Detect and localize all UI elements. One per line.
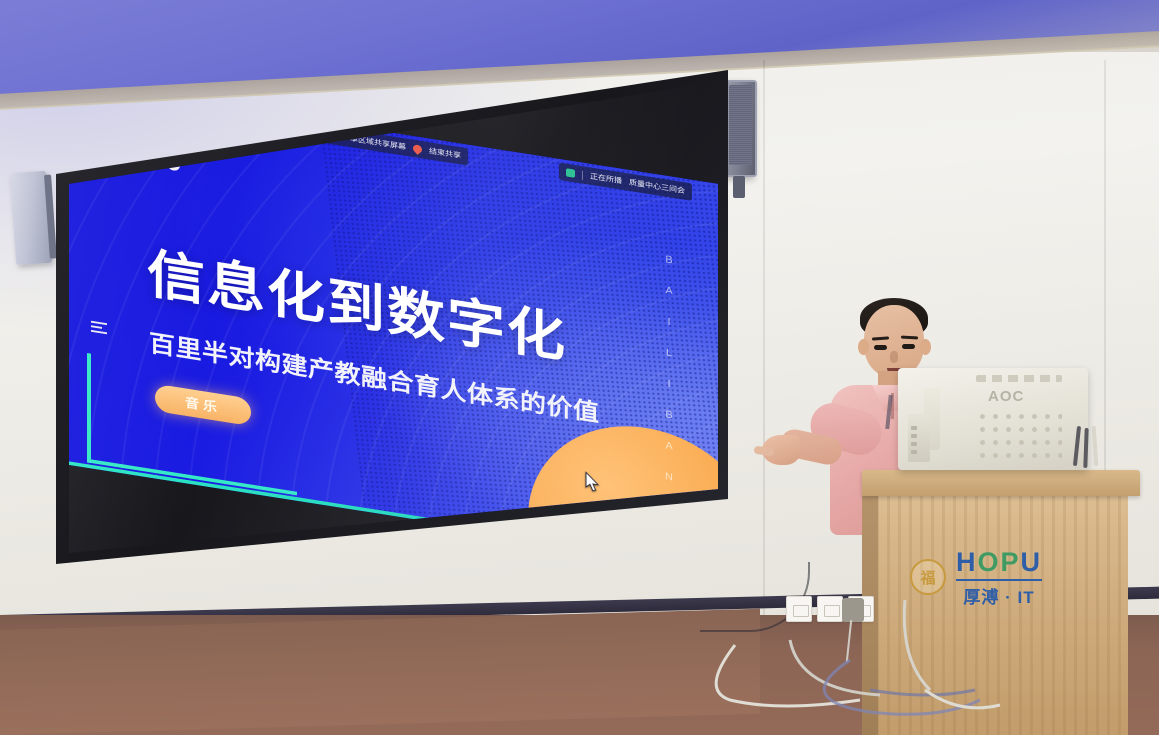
monitor-button-1[interactable] [911,426,917,430]
hopu-letter-p: P [1001,547,1021,577]
hopu-chinese-text: 厚溥 · IT [963,583,1034,608]
monitor-buttons[interactable] [911,426,917,454]
monitor-cables [1073,426,1107,468]
vertical-letter-0: B [665,254,674,266]
aoc-monitor: AOC [898,368,1088,478]
monitor-grill-pattern [976,410,1062,462]
screen-display-area[interactable]: 信息化到数字化 百里半对构建产教融合育人体系的价值 音乐 B A I L I B… [40,64,740,564]
power-plug [842,598,864,622]
hopu-letter-o: O [978,547,1001,577]
vertical-letter-2: I [665,316,674,328]
stop-share-label[interactable]: 结束共享 [429,146,461,161]
vertical-letter-4: I [665,378,674,390]
vertical-letter-6: A [665,440,674,452]
flame-icon [411,143,424,155]
vertical-brand-text: B A I L I B A N [665,254,674,483]
vertical-letter-5: B [665,409,674,421]
hopu-underline [956,579,1042,581]
hopu-latin-text: HOPU [956,547,1042,578]
fu-seal-icon: 福 [910,559,946,595]
presenter-nose [890,351,898,363]
podium-front-panel [876,494,1128,735]
podium-logo: 福 HOPU 厚溥 · IT [910,542,1080,612]
broadcast-status-label: 正在所播 [590,171,622,186]
presenter-eye-right [902,344,915,349]
vertical-letter-1: A [665,285,674,297]
monitor-vents [976,375,1062,382]
monitor-button-3[interactable] [911,442,917,446]
presenter-ear-left [858,339,869,355]
vertical-letter-7: N [665,471,674,483]
hamburger-icon[interactable] [91,321,107,334]
hopu-letter-u: U [1021,547,1043,577]
monitor-brand-label: AOC [988,388,1024,405]
presenter-head [864,305,924,377]
monitor-button-4[interactable] [911,450,917,454]
toolbar-divider [582,170,583,179]
podium: 福 HOPU 厚溥 · IT [862,470,1142,735]
vertical-letter-3: L [665,347,674,359]
floor-foreground [0,609,760,735]
hopu-letter-h: H [956,547,978,577]
hopu-wordmark: HOPU 厚溥 · IT [956,547,1042,608]
monitor-button-2[interactable] [911,434,917,438]
presenter-ear-right [920,339,931,355]
screen-icon [566,168,575,178]
projection-screen[interactable]: 信息化到数字化 百里半对构建产教融合育人体系的价值 音乐 B A I L I B… [40,64,740,564]
wall-outlet-1[interactable] [786,596,812,622]
dot-orange-icon [121,150,134,164]
slide-surface[interactable]: 信息化到数字化 百里半对构建产教融合育人体系的价值 音乐 B A I L I B… [69,82,718,564]
lecture-hall-scene: 信息化到数字化 百里半对构建产教融合育人体系的价值 音乐 B A I L I B… [0,0,1159,735]
wall-outlet-2[interactable] [817,596,843,622]
presenter-eye-left [874,345,887,350]
